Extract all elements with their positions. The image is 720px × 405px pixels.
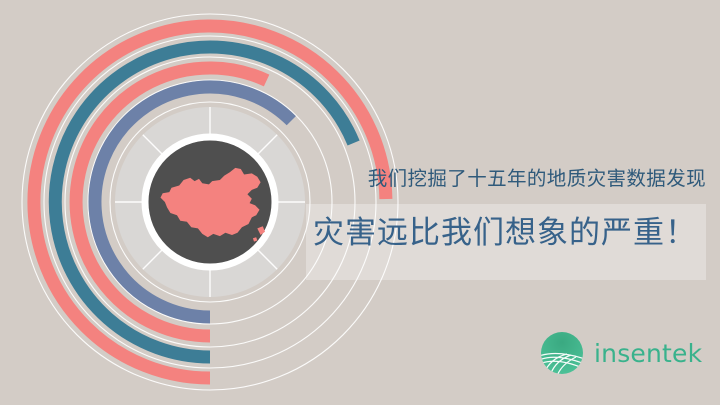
slide-root: 我们挖掘了十五年的地质灾害数据发现 灾害远比我们想象的严重！ insentek [0, 0, 720, 405]
insentek-field-circle-logo [541, 332, 583, 374]
text-block: 我们挖掘了十五年的地质灾害数据发现 灾害远比我们想象的严重！ [306, 166, 706, 286]
subhead-text: 我们挖掘了十五年的地质灾害数据发现 [308, 166, 706, 192]
headline-text: 灾害远比我们想象的严重！ [306, 212, 704, 254]
logo-wordmark: insentek [594, 339, 702, 368]
brand-logo: insentek [541, 330, 701, 376]
